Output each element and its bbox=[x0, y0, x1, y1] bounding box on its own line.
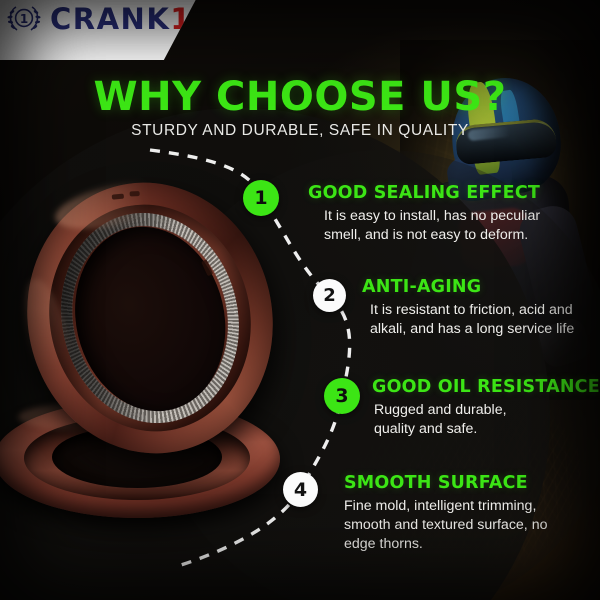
feature-block-4: SMOOTH SURFACE Fine mold, intelligent tr… bbox=[344, 473, 547, 554]
brand-name-main: CRANK bbox=[50, 2, 170, 36]
feature-badge-2: 2 bbox=[313, 279, 346, 312]
feature-badge-4: 4 bbox=[283, 472, 318, 507]
laurel-wreath-one-icon: 1 bbox=[4, 2, 44, 36]
promotional-poster: 1 CRANK1 WHY CHOOSE US? STURDY AND DURAB… bbox=[0, 0, 600, 600]
feature-block-1: GOOD SEALING EFFECT It is easy to instal… bbox=[308, 183, 540, 245]
feature-title-3: GOOD OIL RESISTANCE bbox=[372, 377, 600, 397]
feature-block-3: GOOD OIL RESISTANCE Rugged and durable, … bbox=[372, 377, 600, 439]
feature-badge-1: 1 bbox=[243, 180, 279, 216]
feature-block-2: ANTI-AGING It is resistant to friction, … bbox=[362, 277, 574, 339]
seal-marking-notch bbox=[130, 191, 140, 197]
page-subtitle: STURDY AND DURABLE, SAFE IN QUALITY bbox=[0, 122, 600, 140]
page-title: WHY CHOOSE US? bbox=[0, 74, 600, 120]
feature-title-4: SMOOTH SURFACE bbox=[344, 473, 547, 493]
feature-title-1: GOOD SEALING EFFECT bbox=[308, 183, 540, 203]
seal-marking-notch bbox=[112, 194, 124, 200]
feature-body-3: Rugged and durable, quality and safe. bbox=[372, 401, 600, 439]
feature-body-2: It is resistant to friction, acid and al… bbox=[362, 301, 574, 339]
feature-badge-3: 3 bbox=[324, 378, 360, 414]
brand-wordmark: CRANK1 bbox=[50, 5, 192, 34]
feature-title-2: ANTI-AGING bbox=[362, 277, 574, 297]
feature-body-1: It is easy to install, has no peculiar s… bbox=[308, 207, 540, 245]
emblem-number: 1 bbox=[20, 12, 28, 26]
product-oil-seals bbox=[0, 192, 312, 532]
feature-body-4: Fine mold, intelligent trimming, smooth … bbox=[344, 497, 547, 554]
